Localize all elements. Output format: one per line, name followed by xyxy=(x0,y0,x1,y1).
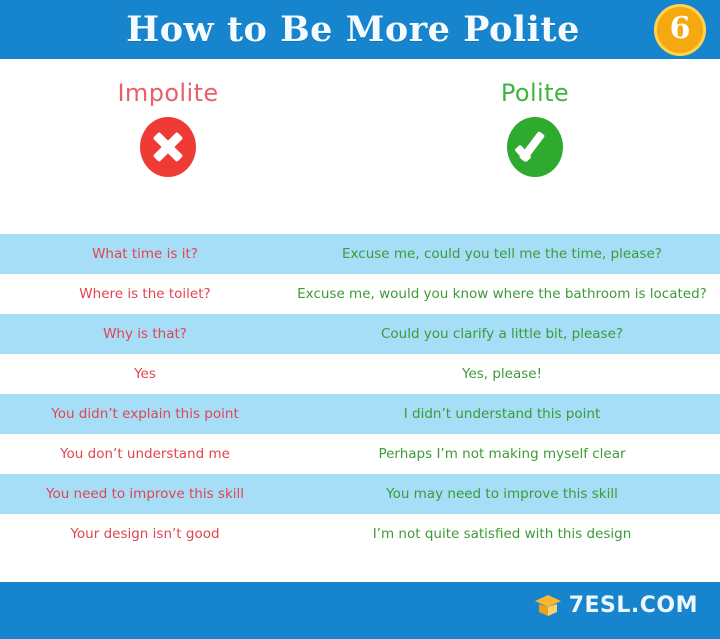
column-headers: Impolite Polite DON'T SAY SAY xyxy=(0,59,720,234)
polite-phrase: Excuse me, could you tell me the time, p… xyxy=(290,234,720,274)
impolite-phrase: You don’t understand me xyxy=(0,434,290,474)
polite-phrase: Excuse me, would you know where the bath… xyxy=(290,274,720,314)
table-row: YesYes, please! xyxy=(0,354,720,394)
polite-column-header: Polite xyxy=(355,59,715,234)
check-circle-icon xyxy=(507,117,563,177)
table-row: You didn’t explain this pointI didn’t un… xyxy=(0,394,720,434)
polite-title: Polite xyxy=(501,79,569,107)
polite-phrase: You may need to improve this skill xyxy=(290,474,720,514)
impolite-phrase: What time is it? xyxy=(0,234,290,274)
table-row: Where is the toilet?Excuse me, would you… xyxy=(0,274,720,314)
polite-phrase: I’m not quite satisfied with this design xyxy=(290,514,720,554)
impolite-column-header: Impolite xyxy=(0,59,348,234)
infographic-poster: How to Be More Polite 6 Impolite Polite … xyxy=(0,0,720,639)
phrases-table: What time is it?Excuse me, could you tel… xyxy=(0,234,720,582)
check-icon xyxy=(517,132,553,162)
site-logo[interactable]: 7ESL.COM xyxy=(534,594,698,618)
polite-phrase: Yes, please! xyxy=(290,354,720,394)
impolite-phrase: You didn’t explain this point xyxy=(0,394,290,434)
lesson-number-label: 6 xyxy=(670,14,691,44)
table-row: Why is that?Could you clarify a little b… xyxy=(0,314,720,354)
impolite-phrase: You need to improve this skill xyxy=(0,474,290,514)
table-row: Your design isn’t goodI’m not quite sati… xyxy=(0,514,720,554)
page-title: How to Be More Polite xyxy=(126,9,580,50)
lesson-number-badge: 6 xyxy=(654,4,706,56)
impolite-phrase: Yes xyxy=(0,354,290,394)
cross-circle-icon xyxy=(140,117,196,177)
impolite-phrase: Why is that? xyxy=(0,314,290,354)
footer-bar: 7ESL.COM xyxy=(0,582,720,639)
polite-phrase: I didn’t understand this point xyxy=(290,394,720,434)
impolite-phrase: Your design isn’t good xyxy=(0,514,290,554)
table-row: You don’t understand mePerhaps I’m not m… xyxy=(0,434,720,474)
impolite-title: Impolite xyxy=(117,79,218,107)
cross-icon xyxy=(151,130,185,164)
phrase-rows: What time is it?Excuse me, could you tel… xyxy=(0,234,720,554)
polite-phrase: Could you clarify a little bit, please? xyxy=(290,314,720,354)
impolite-phrase: Where is the toilet? xyxy=(0,274,290,314)
polite-phrase: Perhaps I’m not making myself clear xyxy=(290,434,720,474)
table-row: What time is it?Excuse me, could you tel… xyxy=(0,234,720,274)
graduation-cap-icon xyxy=(534,594,562,618)
table-row: You need to improve this skillYou may ne… xyxy=(0,474,720,514)
site-logo-text: 7ESL.COM xyxy=(569,595,698,617)
header-bar: How to Be More Polite 6 xyxy=(0,0,720,59)
